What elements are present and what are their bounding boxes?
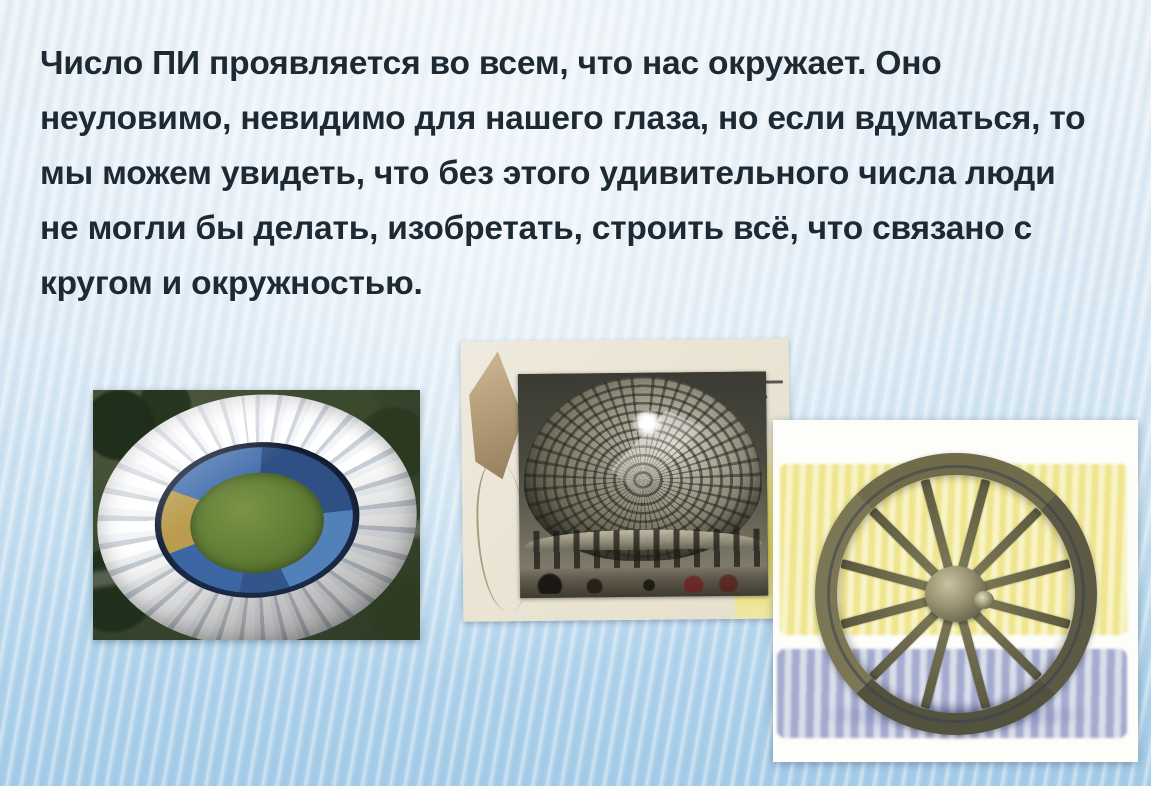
wagon-wheel <box>815 453 1097 735</box>
pantheon-visitors <box>520 564 768 593</box>
lead-phrase: Число ПИ <box>40 45 200 82</box>
presentation-slide: Число ПИ проявляется во всем, что нас ок… <box>0 0 1151 786</box>
wagon-wheel-photo <box>773 420 1138 762</box>
pantheon-book-page <box>461 338 792 621</box>
slide-body-text: Число ПИ проявляется во всем, что нас ок… <box>40 36 1100 311</box>
body-remainder: проявляется во всем, что нас окружает. О… <box>40 45 1085 302</box>
stadium-photo <box>93 390 420 640</box>
pantheon-photo <box>518 372 768 599</box>
wheel-axle <box>974 591 994 609</box>
stadium-bowl <box>93 390 420 640</box>
stadium-highlight <box>93 390 420 640</box>
